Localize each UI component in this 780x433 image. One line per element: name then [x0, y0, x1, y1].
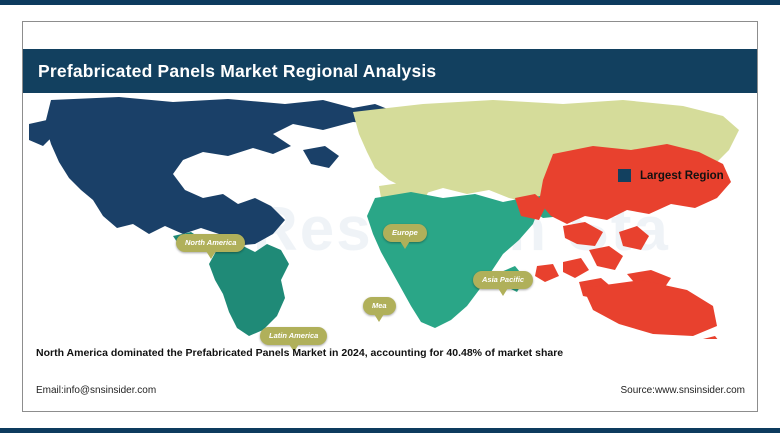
map-label-asia-pacific[interactable]: Asia Pacific — [473, 271, 533, 289]
map-label-north-america[interactable]: North America — [176, 234, 245, 252]
map-region-north-america — [29, 97, 395, 246]
legend: Largest Region — [618, 169, 724, 182]
footer: Email:info@snsinsider.com Source:www.sns… — [23, 385, 759, 413]
map-label-mea[interactable]: Mea — [363, 297, 396, 315]
footer-source[interactable]: Source:www.snsinsider.com — [621, 385, 746, 396]
map-label-europe[interactable]: Europe — [383, 224, 427, 242]
map-label-latin-america[interactable]: Latin America — [260, 327, 327, 345]
top-accent-strip — [0, 0, 780, 5]
page-title: Prefabricated Panels Market Regional Ana… — [38, 61, 436, 82]
report-card: Prefabricated Panels Market Regional Ana… — [22, 21, 758, 412]
footer-email[interactable]: Email:info@snsinsider.com — [36, 385, 156, 396]
square-swatch-icon — [618, 169, 631, 182]
insight-text: North America dominated the Prefabricate… — [36, 347, 563, 359]
title-bar: Prefabricated Panels Market Regional Ana… — [23, 49, 757, 93]
bottom-accent-strip — [0, 428, 780, 433]
world-map: Research Sta — [23, 94, 759, 339]
legend-item-label: Largest Region — [640, 170, 724, 182]
